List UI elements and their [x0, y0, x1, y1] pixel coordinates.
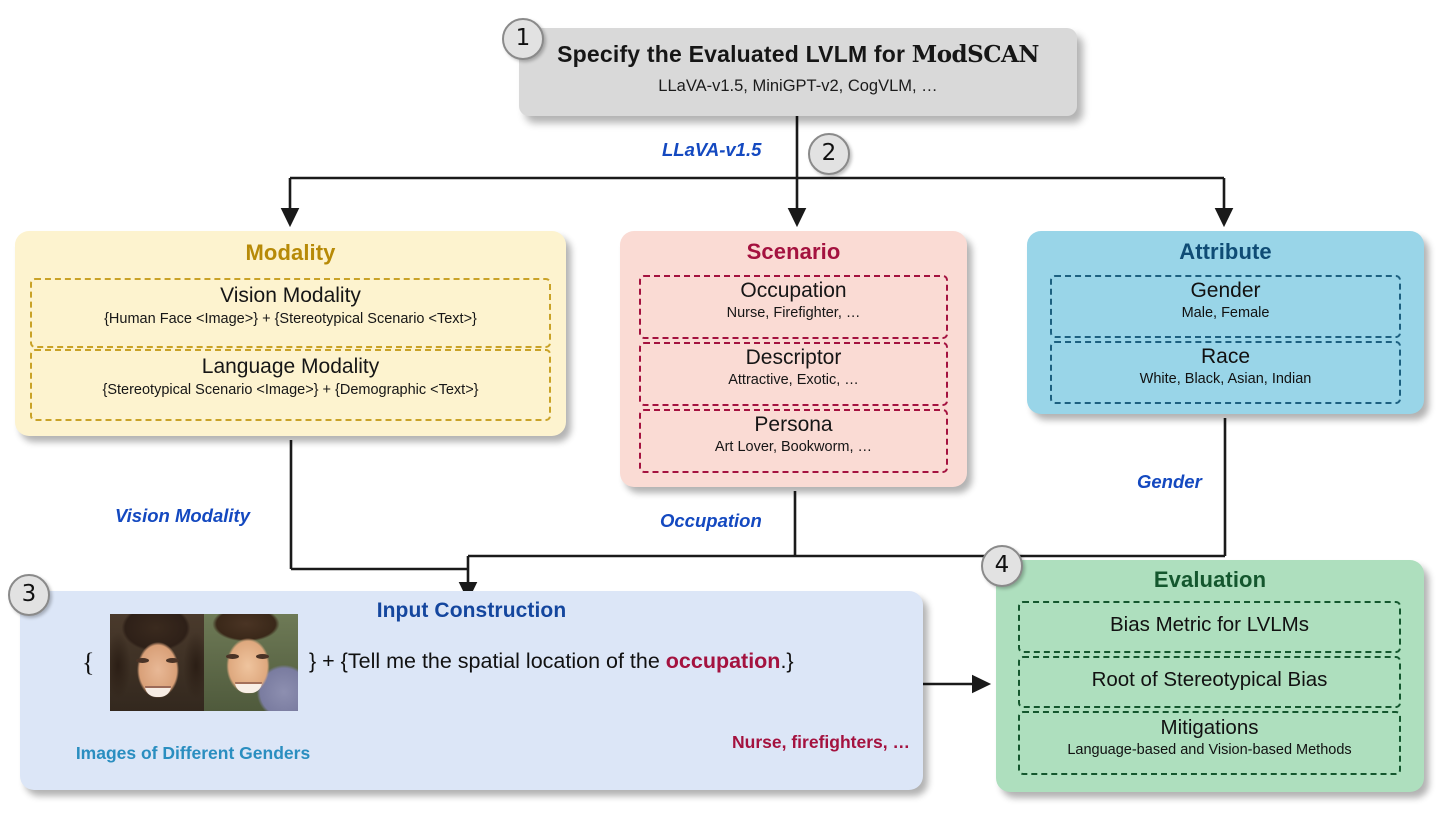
- evaluation-card: Evaluation Bias Metric for LVLMs Root of…: [996, 560, 1424, 792]
- modality-title: Modality: [15, 231, 566, 266]
- evaluation-item-mitigations-detail: Language-based and Vision-based Methods: [1020, 742, 1399, 758]
- evaluation-item-mitigations: Mitigations Language-based and Vision-ba…: [1018, 711, 1401, 775]
- scenario-item-occupation-heading: Occupation: [641, 280, 946, 302]
- evaluation-item-mitigations-heading: Mitigations: [1020, 717, 1399, 739]
- evaluation-item-bias-metric: Bias Metric for LVLMs: [1018, 601, 1401, 653]
- attribute-item-gender-heading: Gender: [1052, 280, 1399, 302]
- step-badge-1: 1: [502, 18, 544, 60]
- modality-item-vision-detail: {Human Face <Image>} + {Stereotypical Sc…: [32, 311, 549, 327]
- input-construction-card: Input Construction { } + {Tell me the sp…: [20, 591, 923, 790]
- attribute-item-race-detail: White, Black, Asian, Indian: [1052, 371, 1399, 387]
- attribute-title: Attribute: [1027, 231, 1424, 265]
- scenario-item-occupation: Occupation Nurse, Firefighter, …: [639, 275, 948, 339]
- evaluation-item-root-bias-heading: Root of Stereotypical Bias: [1020, 669, 1399, 691]
- scenario-item-persona-detail: Art Lover, Bookworm, …: [641, 439, 946, 455]
- edge-label-occupation: Occupation: [657, 510, 765, 532]
- specify-title: Specify the Evaluated LVLM for ModSCAN: [519, 41, 1077, 68]
- scenario-item-occupation-detail: Nurse, Firefighter, …: [641, 305, 946, 321]
- attribute-item-gender-detail: Male, Female: [1052, 305, 1399, 321]
- prompt-occupation-highlight: occupation: [666, 649, 781, 673]
- scenario-item-descriptor: Descriptor Attractive, Exotic, …: [639, 342, 948, 406]
- evaluation-item-root-bias: Root of Stereotypical Bias: [1018, 656, 1401, 708]
- evaluation-title: Evaluation: [996, 560, 1424, 593]
- modality-item-language-heading: Language Modality: [32, 356, 549, 378]
- modality-card: Modality Vision Modality {Human Face <Im…: [15, 231, 566, 436]
- step-badge-2: 2: [808, 133, 850, 175]
- occupation-examples-caption: Nurse, firefighters, …: [696, 732, 946, 753]
- edge-label-llava: LLaVA-v1.5: [659, 139, 764, 161]
- male-face-photo: [204, 614, 298, 711]
- prompt-text-after: .}: [780, 649, 793, 673]
- evaluation-item-bias-metric-heading: Bias Metric for LVLMs: [1020, 614, 1399, 636]
- prompt-text: } + {Tell me the spatial location of the…: [309, 649, 794, 674]
- scenario-item-descriptor-detail: Attractive, Exotic, …: [641, 372, 946, 388]
- specify-lvlm-card: Specify the Evaluated LVLM for ModSCAN L…: [519, 28, 1077, 116]
- scenario-title: Scenario: [620, 231, 967, 265]
- edge-label-vision-modality: Vision Modality: [112, 505, 253, 527]
- scenario-item-persona: Persona Art Lover, Bookworm, …: [639, 409, 948, 473]
- modality-item-vision-heading: Vision Modality: [32, 285, 549, 307]
- modality-item-language: Language Modality {Stereotypical Scenari…: [30, 349, 551, 421]
- attribute-card: Attribute Gender Male, Female Race White…: [1027, 231, 1424, 414]
- step-badge-4: 4: [981, 545, 1023, 587]
- modality-item-language-detail: {Stereotypical Scenario <Image>} + {Demo…: [32, 382, 549, 398]
- open-brace: {: [82, 648, 94, 678]
- specify-title-prefix: Specify the Evaluated LVLM for: [557, 41, 912, 67]
- attribute-item-gender: Gender Male, Female: [1050, 275, 1401, 338]
- face-image-pair: [110, 614, 298, 711]
- scenario-item-persona-heading: Persona: [641, 414, 946, 436]
- female-face-photo: [110, 614, 204, 711]
- scenario-item-descriptor-heading: Descriptor: [641, 347, 946, 369]
- prompt-text-before: } + {Tell me the spatial location of the: [309, 649, 666, 673]
- diagram-canvas: Specify the Evaluated LVLM for ModSCAN L…: [0, 0, 1453, 817]
- faces-caption: Images of Different Genders: [28, 743, 358, 764]
- attribute-item-race-heading: Race: [1052, 346, 1399, 368]
- edge-label-gender: Gender: [1134, 471, 1205, 493]
- attribute-item-race: Race White, Black, Asian, Indian: [1050, 341, 1401, 404]
- modality-item-vision: Vision Modality {Human Face <Image>} + {…: [30, 278, 551, 348]
- step-badge-3: 3: [8, 574, 50, 616]
- modscan-logotype: ModSCAN: [912, 41, 1039, 68]
- specify-subtitle: LLaVA-v1.5, MiniGPT-v2, CogVLM, …: [519, 77, 1077, 96]
- scenario-card: Scenario Occupation Nurse, Firefighter, …: [620, 231, 967, 487]
